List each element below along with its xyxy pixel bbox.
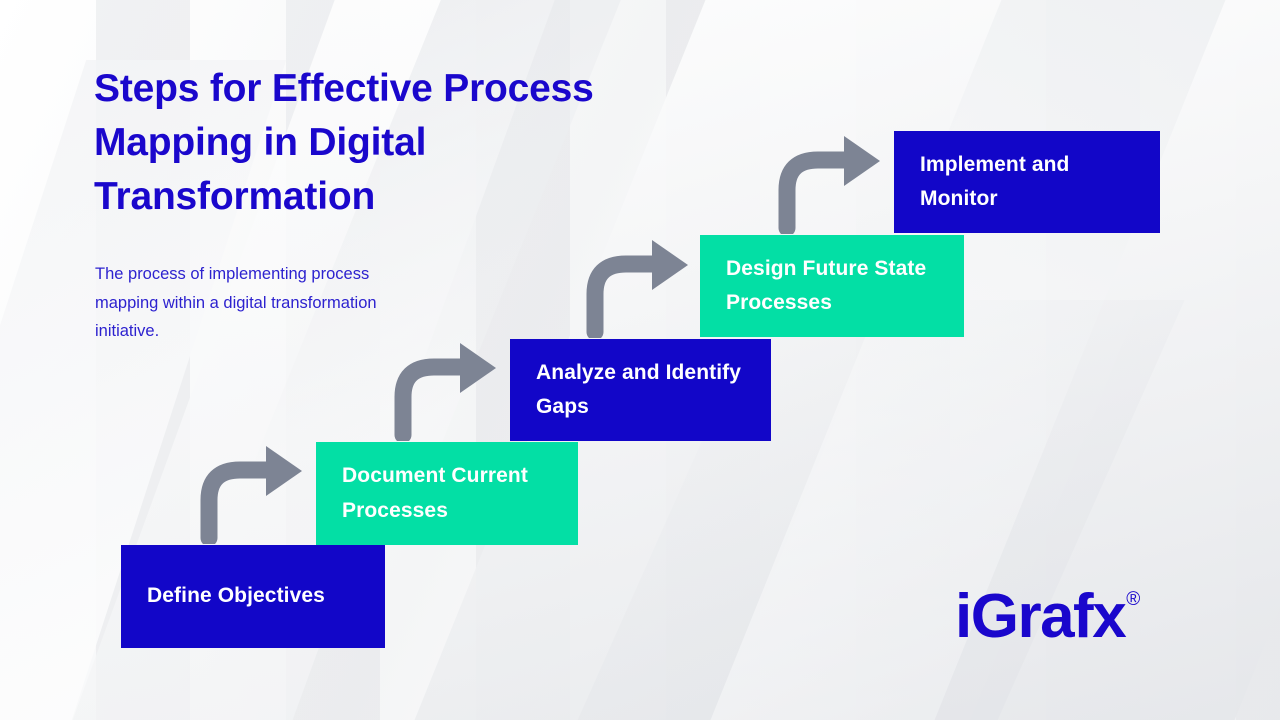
curved-arrow-up-right-icon bbox=[578, 228, 698, 338]
curved-arrow-up-right-icon bbox=[192, 434, 312, 544]
igrafx-logo: iGrafx ® bbox=[955, 586, 1140, 648]
page-subtitle: The process of implementing process mapp… bbox=[95, 260, 425, 346]
step-box-design-future-state-processes[interactable]: Design Future State Processes bbox=[700, 235, 964, 337]
page-title: Steps for Effective Process Mapping in D… bbox=[94, 62, 714, 223]
step-box-document-current-processes[interactable]: Document Current Processes bbox=[316, 442, 578, 545]
registered-trademark-icon: ® bbox=[1126, 590, 1140, 609]
step-label: Analyze and Identify Gaps bbox=[536, 356, 745, 424]
step-box-define-objectives[interactable]: Define Objectives bbox=[121, 545, 385, 648]
step-label: Define Objectives bbox=[147, 579, 325, 613]
curved-arrow-up-right-icon bbox=[770, 124, 890, 234]
step-label: Implement and Monitor bbox=[920, 148, 1134, 216]
logo-wordmark: iGrafx bbox=[955, 586, 1125, 648]
curved-arrow-up-right-icon bbox=[386, 331, 506, 441]
step-label: Design Future State Processes bbox=[726, 252, 938, 320]
step-box-implement-and-monitor[interactable]: Implement and Monitor bbox=[894, 131, 1160, 233]
infographic-canvas: Steps for Effective Process Mapping in D… bbox=[0, 0, 1280, 720]
step-box-analyze-and-identify-gaps[interactable]: Analyze and Identify Gaps bbox=[510, 339, 771, 441]
step-label: Document Current Processes bbox=[342, 459, 552, 527]
